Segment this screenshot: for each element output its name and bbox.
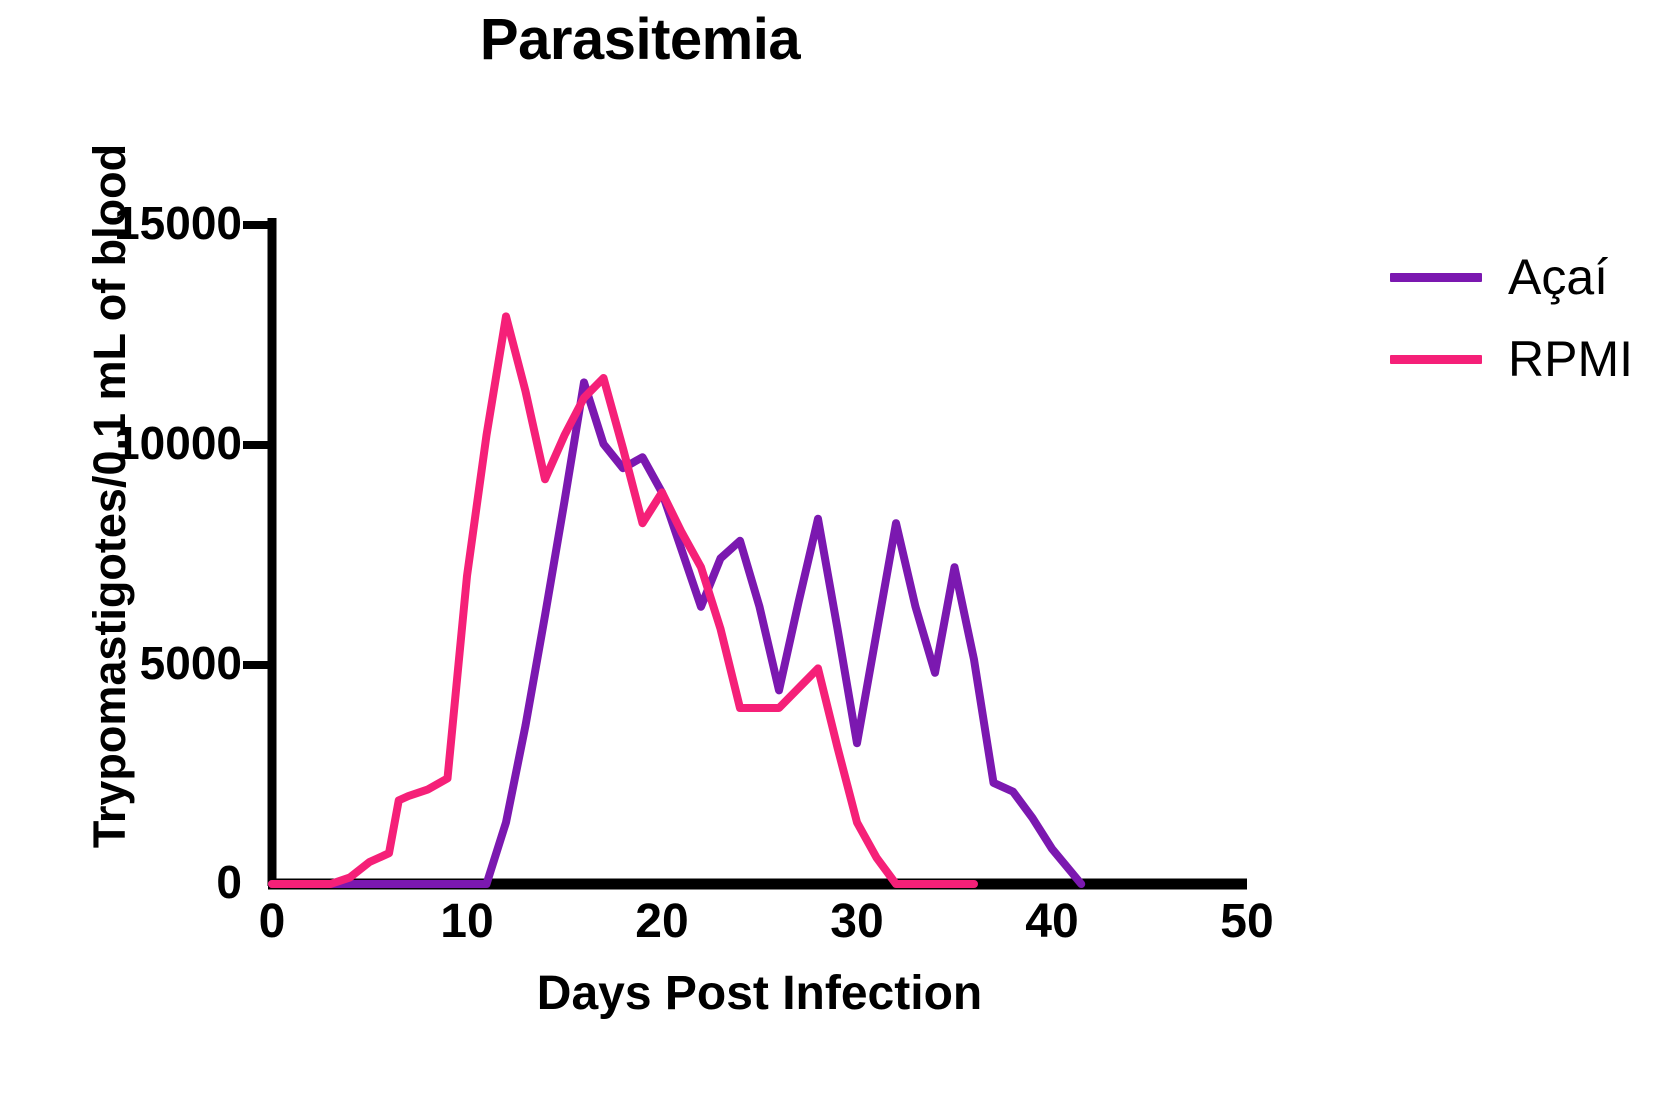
legend-label-rpmi: RPMI (1508, 334, 1633, 384)
data-series-group (272, 316, 1081, 884)
chart-legend: Açaí RPMI (1390, 236, 1671, 400)
legend-item-acai[interactable]: Açaí (1390, 236, 1671, 318)
legend-swatch-rpmi (1390, 355, 1482, 364)
plot-area (0, 0, 1671, 1118)
legend-item-rpmi[interactable]: RPMI (1390, 318, 1671, 400)
legend-swatch-acai (1390, 273, 1482, 282)
series-line-rpmi (272, 316, 974, 884)
legend-label-acai: Açaí (1508, 252, 1608, 302)
chart-figure: Parasitemia Trypomastigotes/0.1 mL of bl… (0, 0, 1671, 1118)
